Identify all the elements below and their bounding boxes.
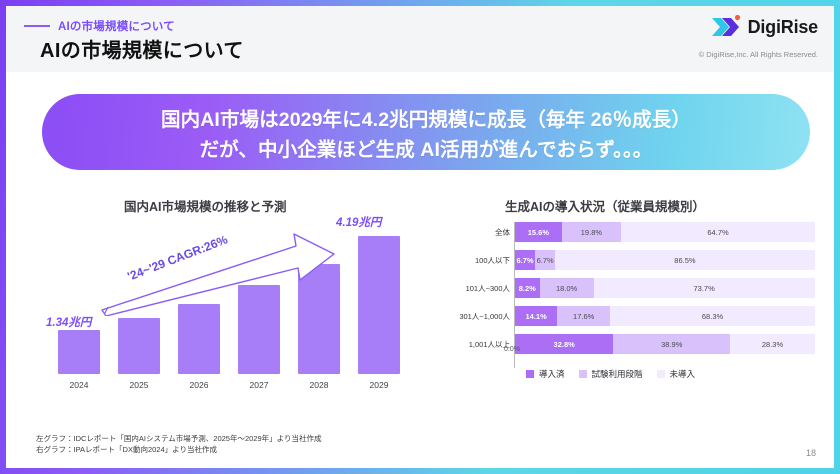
stacked-segment: 14.1% (515, 306, 557, 326)
dash-icon (24, 25, 50, 27)
column-bar (178, 304, 220, 374)
source-note-left: 左グラフ：IDCレポート「国内AIシステム市場予測、2025年〜2029年」より… (36, 434, 322, 445)
stacked-bar-row: 101人~300人8.2%18.0%73.7% (430, 278, 830, 298)
column-plot-area: 202420252026202720282029 (54, 222, 414, 374)
stacked-category-label: 全体 (430, 227, 515, 238)
slide: AIの市場規模について AIの市場規模について DigiRise © DigiR… (0, 0, 840, 474)
stacked-bar-row: 100人以下6.7%6.7%86.5% (430, 250, 830, 270)
column-category-label: 2029 (358, 380, 400, 390)
column-bar (238, 285, 280, 374)
page-title: AIの市場規模について (40, 34, 244, 63)
headline-line-2: だが、中小企業ほど生成 AI活用が進んでおらず。。。 (200, 133, 653, 162)
column-bar (58, 330, 100, 374)
column-bar (358, 236, 400, 374)
headline-line-1: 国内AI市場は2029年に4.2兆円規模に成長（毎年 26％成長） (161, 103, 691, 132)
stacked-bar-track: 15.6%19.8%64.7% (515, 222, 815, 242)
stacked-bar-row: 1,001人以上32.8%38.9%28.3% (430, 334, 830, 354)
legend-label: 導入済 (539, 368, 565, 380)
breadcrumb-label: AIの市場規模について (58, 18, 175, 34)
legend-swatch-icon (526, 370, 534, 378)
x-axis-tick-0: 0.0% (504, 346, 520, 353)
breadcrumb: AIの市場規模について (24, 18, 175, 34)
market-size-column-chart: 国内AI市場規模の推移と予測 1.34兆円 4.19兆円 20242025202… (36, 196, 426, 401)
stacked-segment: 18.0% (540, 278, 594, 298)
stacked-category-label: 100人以下 (430, 255, 515, 266)
column-bar (118, 318, 160, 374)
column-category-label: 2024 (58, 380, 100, 390)
left-chart-title: 国内AI市場規模の推移と予測 (124, 196, 287, 215)
right-chart-title: 生成AIの導入状況（従業員規模別） (505, 196, 705, 215)
stacked-plot-area: 全体15.6%19.8%64.7%100人以下6.7%6.7%86.5%101人… (430, 222, 830, 364)
stacked-bar-track: 32.8%38.9%28.3% (515, 334, 815, 354)
legend-swatch-icon (657, 370, 665, 378)
stacked-bar-track: 14.1%17.6%68.3% (515, 306, 815, 326)
column-category-label: 2025 (118, 380, 160, 390)
stacked-category-label: 301人~1,000人 (430, 311, 515, 322)
genai-adoption-stacked-chart: 生成AIの導入状況（従業員規模別） 全体15.6%19.8%64.7%100人以… (430, 196, 830, 428)
stacked-segment: 17.6% (557, 306, 610, 326)
legend-swatch-icon (579, 370, 587, 378)
legend-item: 試験利用段階 (579, 368, 643, 380)
stacked-segment: 73.7% (594, 278, 815, 298)
stacked-segment: 19.8% (562, 222, 621, 242)
legend-item: 導入済 (526, 368, 565, 380)
column-item (118, 222, 160, 374)
column-category-label: 2027 (238, 380, 280, 390)
stacked-segment: 8.2% (515, 278, 540, 298)
logo-wordmark: DigiRise (748, 17, 818, 38)
chart-legend: 導入済試験利用段階未導入 (526, 368, 695, 380)
stacked-category-label: 1,001人以上 (430, 339, 515, 350)
legend-item: 未導入 (657, 368, 696, 380)
stacked-segment: 32.8% (515, 334, 613, 354)
column-bar (298, 264, 340, 374)
stacked-segment: 6.7% (535, 250, 555, 270)
stacked-segment: 15.6% (515, 222, 562, 242)
column-item (238, 222, 280, 374)
headline-banner: 国内AI市場は2029年に4.2兆円規模に成長（毎年 26％成長） だが、中小企… (42, 94, 810, 170)
source-note-right: 右グラフ：IPAレポート「DX動向2024」より当社作成 (36, 445, 322, 456)
legend-label: 未導入 (670, 368, 696, 380)
legend-label: 試験利用段階 (592, 368, 643, 380)
stacked-segment: 86.5% (555, 250, 815, 270)
column-item (298, 222, 340, 374)
stacked-segment: 38.9% (613, 334, 730, 354)
column-category-label: 2026 (178, 380, 220, 390)
stacked-bar-row: 全体15.6%19.8%64.7% (430, 222, 830, 242)
copyright-text: © DigiRise,Inc. All Rights Reserved. (699, 50, 818, 59)
page-number: 18 (806, 448, 816, 458)
stacked-bar-track: 6.7%6.7%86.5% (515, 250, 815, 270)
brand-logo: DigiRise (711, 14, 818, 40)
slide-canvas: AIの市場規模について AIの市場規模について DigiRise © DigiR… (6, 6, 834, 468)
stacked-segment: 68.3% (610, 306, 815, 326)
stacked-category-label: 101人~300人 (430, 283, 515, 294)
source-notes: 左グラフ：IDCレポート「国内AIシステム市場予測、2025年〜2029年」より… (36, 434, 322, 456)
column-category-label: 2028 (298, 380, 340, 390)
column-item (58, 222, 100, 374)
stacked-segment: 64.7% (621, 222, 815, 242)
stacked-segment: 6.7% (515, 250, 535, 270)
stacked-segment: 28.3% (730, 334, 815, 354)
column-item (358, 222, 400, 374)
stacked-bar-row: 301人~1,000人14.1%17.6%68.3% (430, 306, 830, 326)
digirise-chevron-icon (711, 14, 741, 40)
stacked-bar-track: 8.2%18.0%73.7% (515, 278, 815, 298)
